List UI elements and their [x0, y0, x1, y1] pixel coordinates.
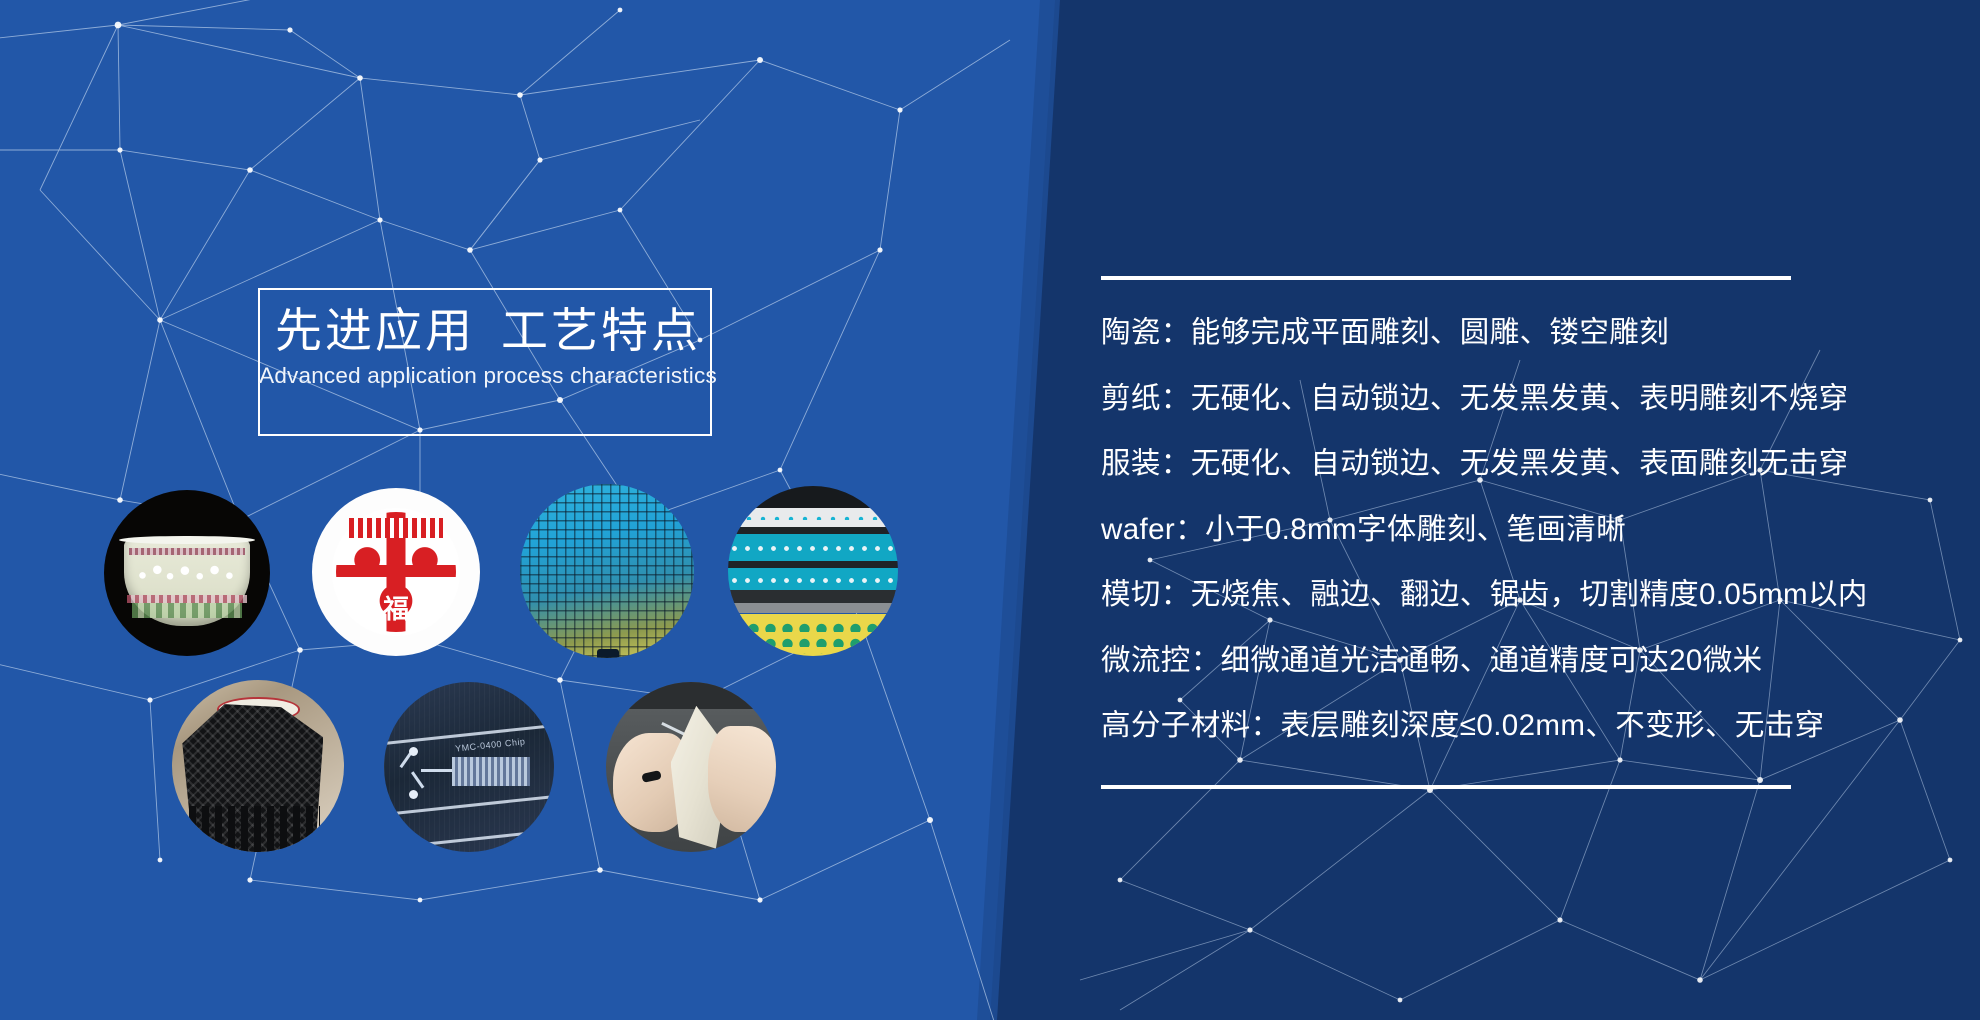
- gallery-item-microfluidic-chip[interactable]: YMC-0400 Chip: [384, 682, 554, 852]
- spec-item-die-cut: 模切：无烧焦、融边、翻边、锯齿，切割精度0.05mm以内: [1101, 580, 1791, 610]
- wafer-die-grid: [520, 484, 694, 658]
- gallery-item-ceramic-bowl[interactable]: [104, 490, 270, 656]
- gallery-item-wafer-grid[interactable]: [520, 484, 694, 658]
- spec-list: 陶瓷：能够完成平面雕刻、圆雕、镂空雕刻 剪纸：无硬化、自动锁边、无发黑发黄、表明…: [1101, 318, 1791, 741]
- chip-y-junction: [411, 750, 455, 794]
- gloved-hand-right: [708, 726, 776, 831]
- film-bench-edge: [606, 682, 776, 709]
- spec-item-papercut: 剪纸：无硬化、自动锁边、无发黑发黄、表明雕刻不烧穿: [1101, 384, 1791, 414]
- spec-item-wafer: wafer：小于0.8mm字体雕刻、笔画清晰: [1101, 515, 1791, 545]
- papercut-top-motif: [349, 518, 443, 538]
- bowl-pattern-band-top: [129, 548, 245, 555]
- chip-inlet-lower: [409, 790, 418, 799]
- bowl-engraved-glyphs: [134, 560, 240, 588]
- spec-panel: 陶瓷：能够完成平面雕刻、圆雕、镂空雕刻 剪纸：无硬化、自动锁边、无发黑发黄、表明…: [1101, 276, 1791, 789]
- layer-divider-2: [728, 561, 898, 568]
- spec-rule-top: [1101, 276, 1791, 280]
- spec-item-ceramic: 陶瓷：能够完成平面雕刻、圆雕、镂空雕刻: [1101, 318, 1791, 348]
- layer-gray-light: [728, 603, 898, 613]
- layer-dots-white-1: [728, 542, 898, 554]
- bowl-pattern-band-bottom: [127, 595, 247, 603]
- spec-item-garment: 服装：无硬化、自动锁边、无发黑发黄、表面雕刻无击穿: [1101, 449, 1791, 479]
- chip-y-arm-lower: [411, 771, 425, 789]
- spec-item-polymer: 高分子材料：表层雕刻深度≤0.02mm、不变形、无击穿: [1101, 711, 1791, 741]
- spec-rule-bottom: [1101, 785, 1791, 789]
- bowl-rim: [119, 536, 255, 544]
- layer-dots-white-2: [728, 574, 898, 586]
- gallery-item-wafer-layers[interactable]: [728, 486, 898, 656]
- garment-laser-cut-fringe: [189, 806, 320, 852]
- wafer-notch: [597, 649, 620, 658]
- gallery-item-polymer-film[interactable]: [606, 682, 776, 852]
- slide-canvas: 先进应用工艺特点 Advanced application process ch…: [0, 0, 1980, 1020]
- chip-channel-array: [452, 757, 530, 786]
- gallery: 福: [0, 0, 900, 1020]
- chip-y-stem: [421, 769, 452, 772]
- spec-item-microfluidics: 微流控：细微通道光洁通畅、通道精度可达20微米: [1101, 646, 1791, 676]
- layer-green-caps: [728, 617, 898, 654]
- gallery-item-garment[interactable]: [172, 680, 344, 852]
- chip-inlet-upper: [409, 747, 418, 756]
- layer-dots-cyan: [728, 512, 898, 521]
- gallery-item-papercut[interactable]: 福: [312, 488, 480, 656]
- layer-dark-top: [728, 486, 898, 508]
- layer-gray-dark: [728, 590, 898, 604]
- bowl-foot-pattern: [132, 603, 242, 618]
- layer-divider-1: [728, 527, 898, 534]
- papercut-fu-glyph: 福: [383, 596, 409, 622]
